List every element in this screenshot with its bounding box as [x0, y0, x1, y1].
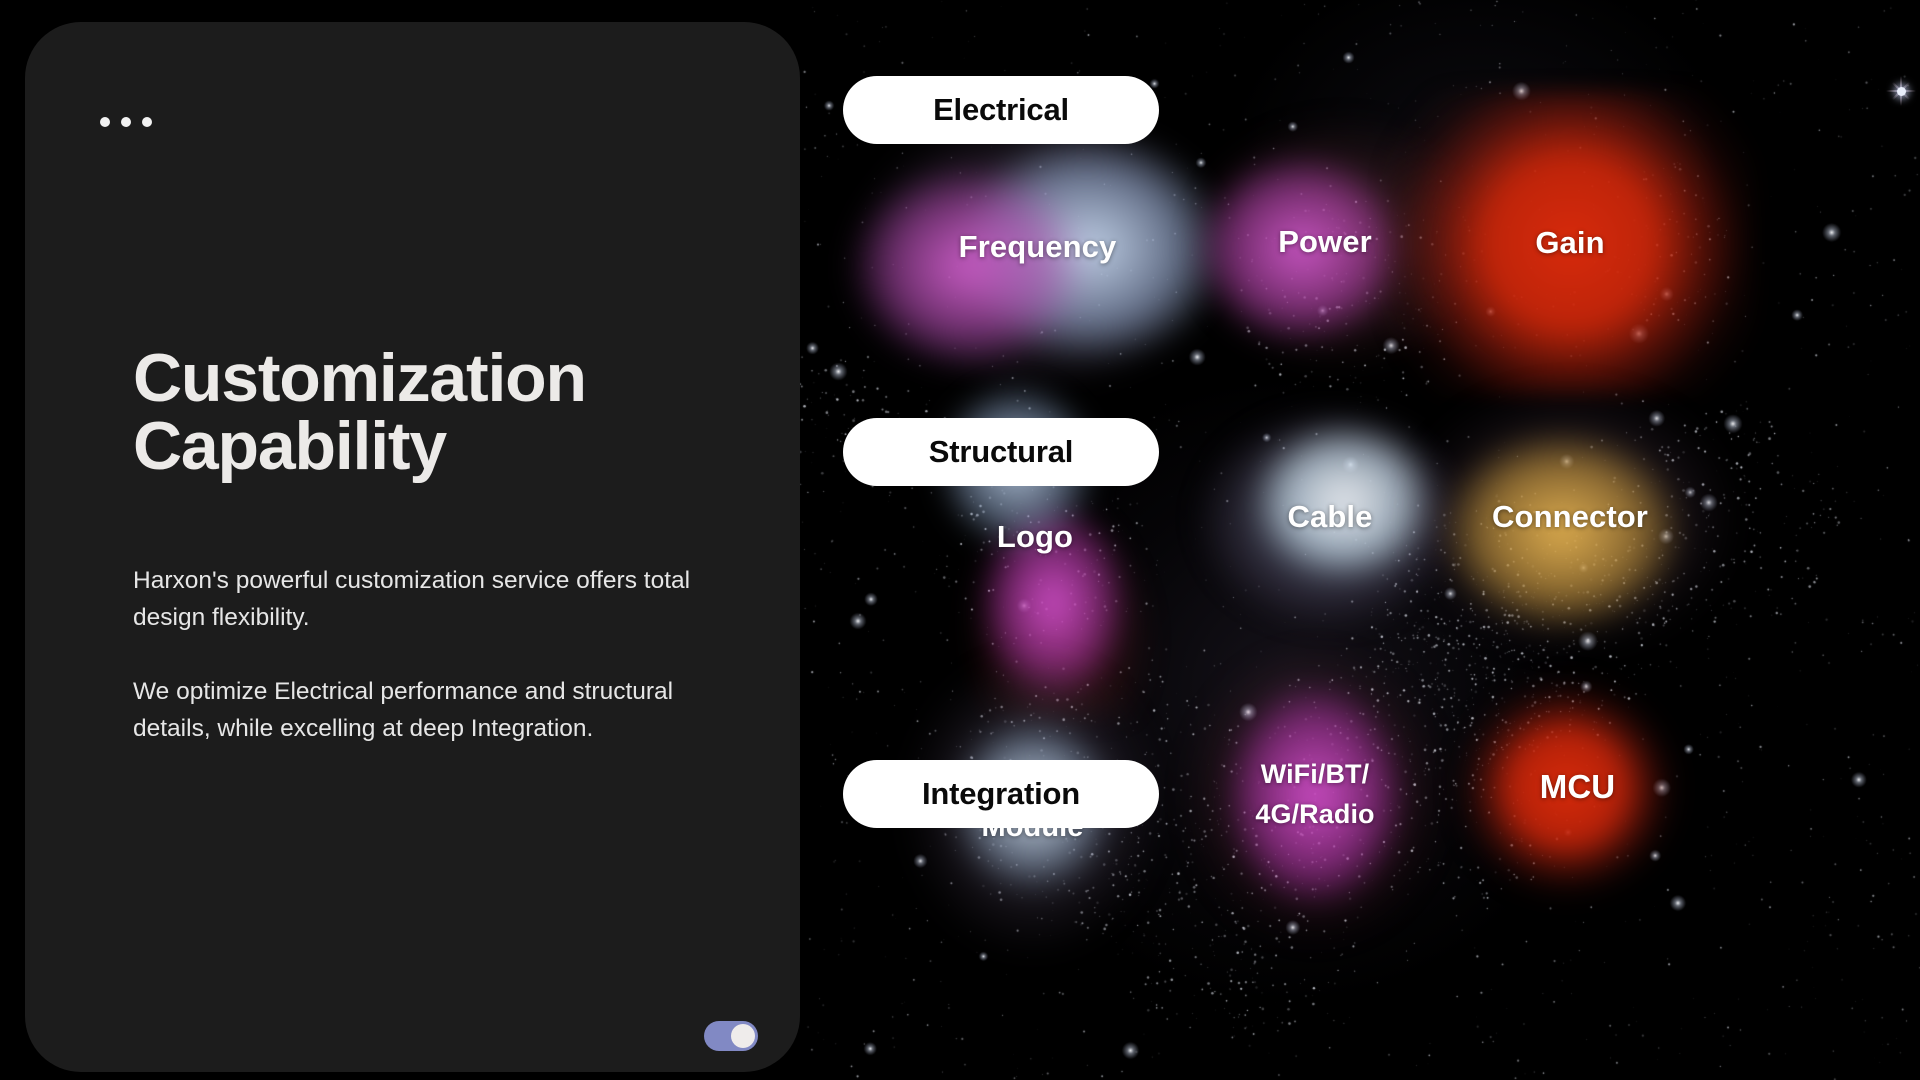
capability-label: Connector	[1492, 499, 1648, 536]
capability-label: Cable	[1288, 499, 1373, 536]
category-pill-label: Integration	[922, 776, 1080, 812]
page-title-line1: Customization	[133, 344, 733, 412]
capability-blob-mcu[interactable]: MCU	[1455, 685, 1700, 890]
page-title-line2: Capability	[133, 412, 733, 480]
info-card: Customization Capability Harxon's powerf…	[25, 22, 800, 1072]
capability-label: Gain	[1535, 225, 1604, 262]
capability-label: Logo	[997, 519, 1073, 556]
category-pill-integration[interactable]: Integration	[843, 760, 1159, 828]
four-point-star-icon	[1886, 76, 1916, 106]
capability-label: Frequency	[959, 229, 1117, 266]
slide-root: Frequency Power Gain Logo Cable Connecto…	[0, 0, 1920, 1080]
capability-label: MCU	[1540, 768, 1615, 807]
capability-label-line2: 4G/Radio	[1255, 799, 1374, 831]
capability-blob-connector[interactable]: Connector	[1440, 420, 1700, 615]
card-description: Harxon's powerful customization service …	[133, 562, 693, 747]
category-pill-electrical[interactable]: Electrical	[843, 76, 1159, 144]
category-pill-label: Electrical	[933, 92, 1069, 128]
card-paragraph-1: Harxon's powerful customization service …	[133, 562, 693, 636]
feature-toggle[interactable]	[704, 1021, 758, 1051]
capability-label-line1: WiFi/BT/	[1261, 759, 1370, 791]
card-paragraph-2: We optimize Electrical performance and s…	[133, 673, 693, 747]
category-pill-structural[interactable]: Structural	[843, 418, 1159, 486]
capability-blob-gain[interactable]: Gain	[1455, 148, 1685, 338]
space-backdrop: Frequency Power Gain Logo Cable Connecto…	[800, 0, 1920, 1080]
category-pill-label: Structural	[929, 434, 1073, 470]
capability-label: Power	[1278, 224, 1372, 261]
toggle-knob	[731, 1024, 755, 1048]
page-title: Customization Capability	[133, 344, 733, 480]
ellipsis-icon[interactable]	[100, 117, 152, 127]
